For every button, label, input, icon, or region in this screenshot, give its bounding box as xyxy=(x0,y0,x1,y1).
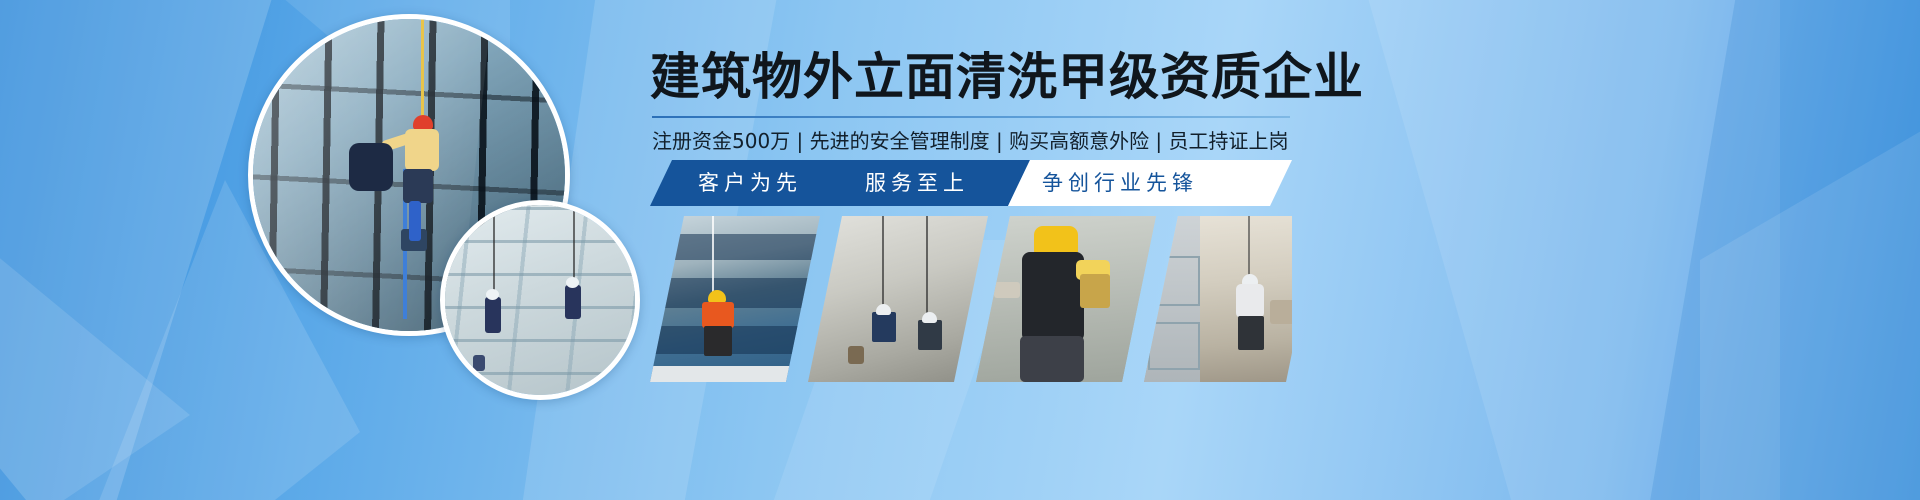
photo-content xyxy=(650,216,820,382)
worker-leg-lower xyxy=(409,201,421,241)
rope xyxy=(712,216,714,300)
worker-left-body xyxy=(485,297,501,333)
photo-panel-2 xyxy=(808,216,988,382)
bg-triangle-3 xyxy=(0,250,190,500)
worker-a-helmet xyxy=(876,304,891,315)
promo-banner: 建筑物外立面清洗甲级资质企业 注册资金500万 | 先进的安全管理制度 | 购买… xyxy=(0,0,1920,500)
photo-strip xyxy=(650,216,1292,382)
worker-pants xyxy=(704,326,732,356)
slogan-text-1: 客户为先 xyxy=(698,160,802,206)
credentials-line: 注册资金500万 | 先进的安全管理制度 | 购买高额意外险 | 员工持证上岗 xyxy=(652,126,1289,156)
photo-panel-3 xyxy=(976,216,1156,382)
worker-b-helmet xyxy=(922,312,937,323)
rope xyxy=(1248,216,1250,278)
photo-content xyxy=(1144,216,1292,382)
worker-torso xyxy=(1236,284,1264,318)
photo-panel-4 xyxy=(1144,216,1292,382)
balcony-railing-1 xyxy=(1148,256,1200,306)
photo-panel-1 xyxy=(650,216,820,382)
photo-content xyxy=(808,216,988,382)
plaster-trowel xyxy=(1080,274,1110,308)
equipment-bag xyxy=(848,346,864,364)
bg-triangle-7 xyxy=(1360,0,1780,500)
slogan-bar: 客户为先 服务至上 争创行业先锋 xyxy=(650,160,1290,206)
ledge xyxy=(650,366,820,382)
worker-arm xyxy=(994,282,1020,298)
rope-a xyxy=(882,216,884,312)
cleaning-equipment xyxy=(349,143,393,191)
bg-triangle-1 xyxy=(0,0,290,500)
photo-content xyxy=(445,205,635,395)
slogan-text-3: 争创行业先锋 xyxy=(1042,160,1198,206)
window-band-3 xyxy=(650,326,820,354)
rope-b xyxy=(926,216,928,320)
bg-triangle-9 xyxy=(1700,120,1920,500)
worker-helmet xyxy=(1034,226,1078,254)
worker-lower xyxy=(473,355,485,371)
worker-left-helmet xyxy=(486,289,499,300)
wall-patch xyxy=(1270,300,1292,324)
worker-torso xyxy=(405,129,439,171)
worker-legs xyxy=(403,169,433,203)
worker-legs xyxy=(1238,316,1264,350)
photo-content xyxy=(976,216,1156,382)
page-title: 建筑物外立面清洗甲级资质企业 xyxy=(650,48,1364,106)
worker-b-body xyxy=(918,320,942,350)
worker-torso xyxy=(1022,252,1084,342)
title-underline-rule xyxy=(652,116,1290,118)
worker-right-helmet xyxy=(566,277,579,288)
slogan-text-2: 服务至上 xyxy=(865,160,969,206)
bg-triangle-8 xyxy=(1640,0,1920,500)
window-band-1 xyxy=(650,234,820,260)
worker-legs xyxy=(1020,336,1084,382)
worker-helmet xyxy=(413,115,433,130)
window-band-2 xyxy=(650,278,820,308)
worker-vest xyxy=(702,302,734,328)
balcony-railing-2 xyxy=(1148,322,1200,370)
worker-a-body xyxy=(872,312,896,342)
photo-circle-building-facade xyxy=(440,200,640,400)
worker-right-body xyxy=(565,285,581,319)
